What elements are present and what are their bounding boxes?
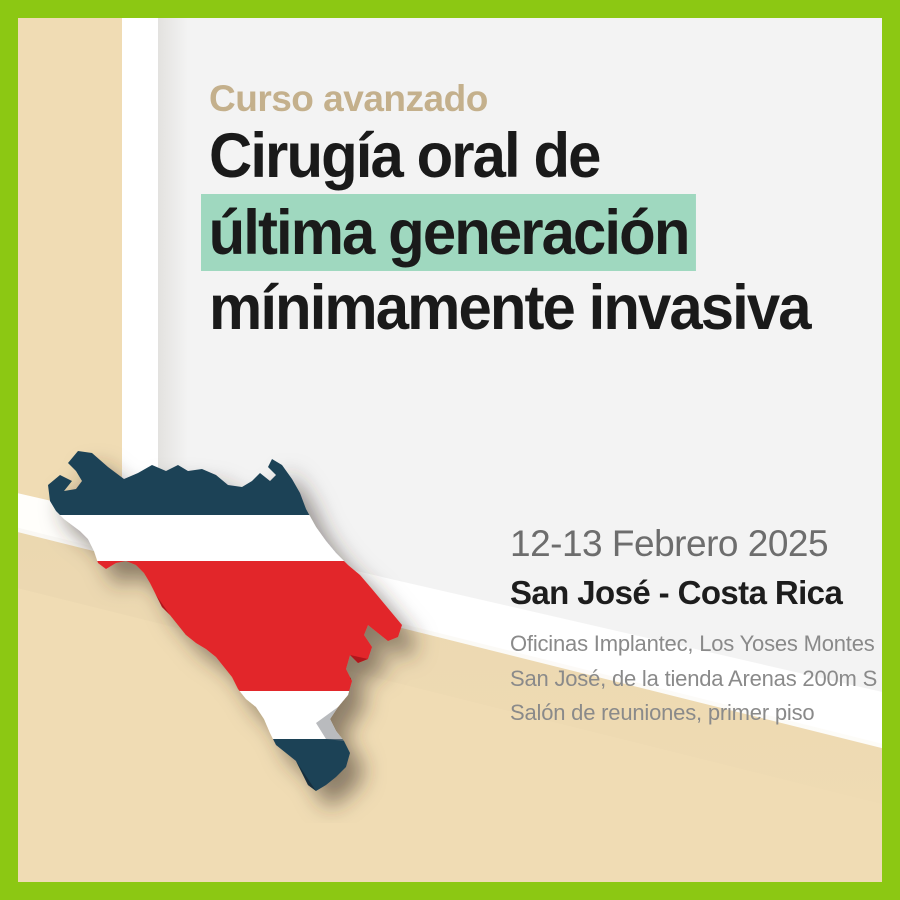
event-address-line-3: Salón de reuniones, primer piso — [510, 696, 882, 730]
kicker-text: Curso avanzado — [209, 80, 882, 117]
flag-band-red — [20, 561, 450, 691]
title-line-2-highlighted: última generación — [201, 194, 696, 271]
map-flag-fill — [20, 423, 450, 823]
event-city: San José - Costa Rica — [510, 574, 882, 612]
title-line-3: mínimamente invasiva — [209, 275, 882, 342]
event-details: 12-13 Febrero 2025 San José - Costa Rica… — [510, 523, 882, 730]
event-address-line-2: San José, de la tienda Arenas 200m S — [510, 662, 882, 696]
poster-card: Curso avanzado Cirugía oral de última ge… — [18, 18, 882, 882]
flag-band-navy-top — [20, 423, 450, 515]
flag-band-white-bottom — [20, 691, 450, 739]
heading-block: Curso avanzado Cirugía oral de última ge… — [193, 80, 882, 343]
flag-band-navy-bottom — [20, 739, 450, 823]
event-date: 12-13 Febrero 2025 — [510, 523, 882, 566]
title-line-1: Cirugía oral de — [209, 123, 882, 190]
flag-band-white-top — [20, 515, 450, 561]
poster: Curso avanzado Cirugía oral de última ge… — [0, 0, 900, 900]
title-line-2-wrapper: última generación — [193, 194, 882, 273]
costa-rica-map — [20, 423, 450, 823]
event-address-line-1: Oficinas Implantec, Los Yoses Montes — [510, 627, 882, 661]
